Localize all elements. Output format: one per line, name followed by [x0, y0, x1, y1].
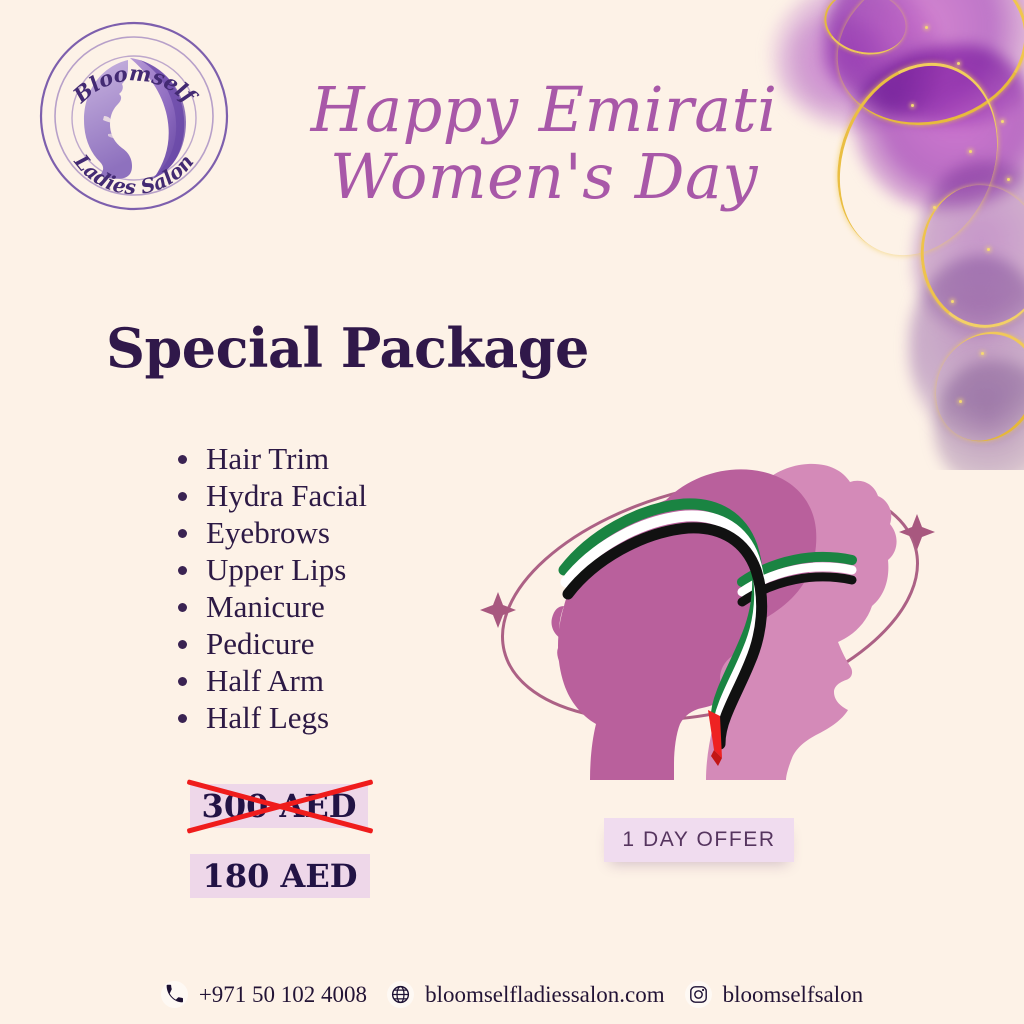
instagram-icon: [685, 981, 712, 1008]
list-item: Eyebrows: [172, 514, 367, 551]
list-item: Hydra Facial: [172, 477, 367, 514]
services-list: Hair Trim Hydra Facial Eyebrows Upper Li…: [172, 440, 367, 736]
list-item: Pedicure: [172, 625, 367, 662]
contact-website[interactable]: bloomselfladiessalon.com: [387, 981, 665, 1008]
greeting-headline: Happy Emirati Women's Day: [284, 78, 804, 208]
list-item: Upper Lips: [172, 551, 367, 588]
contact-phone-text: +971 50 102 4008: [199, 982, 367, 1008]
greeting-line-1: Happy Emirati: [284, 78, 804, 141]
globe-icon: [387, 981, 414, 1008]
phone-icon: [161, 981, 188, 1008]
page-title: Special Package: [106, 316, 589, 380]
greeting-line-2: Women's Day: [284, 145, 804, 208]
new-price: 180 AED: [190, 854, 370, 898]
logo-top-text: Bloomself: [67, 60, 203, 110]
contact-phone[interactable]: +971 50 102 4008: [161, 981, 367, 1008]
svg-text:Bloomself: Bloomself: [67, 60, 203, 110]
purple-gold-ink-decoration: [724, 0, 1024, 470]
two-women-profiles-illustration: [470, 420, 950, 780]
list-item: Half Legs: [172, 699, 367, 736]
gold-vein-icon: [912, 177, 1024, 336]
svg-text:Ladies Salon: Ladies Salon: [69, 149, 198, 199]
brand-logo: Bloomself Ladies Salon: [36, 14, 232, 218]
poster-canvas: Bloomself Ladies Salon Happy Emirati Wom…: [0, 0, 1024, 1024]
list-item: Manicure: [172, 588, 367, 625]
gold-vein-icon: [809, 39, 1024, 280]
contact-instagram[interactable]: bloomselfsalon: [685, 981, 864, 1008]
contact-instagram-text: bloomselfsalon: [723, 982, 864, 1008]
logo-bottom-text: Ladies Salon: [69, 149, 198, 199]
gold-vein-icon: [818, 0, 911, 62]
footer-contact-bar: +971 50 102 4008 bloomselfladiessalon.co…: [0, 981, 1024, 1008]
status-badge: 1 DAY OFFER: [604, 818, 794, 862]
gold-vein-icon: [817, 0, 1024, 149]
list-item: Hair Trim: [172, 440, 367, 477]
contact-website-text: bloomselfladiessalon.com: [425, 982, 665, 1008]
old-price: 300 AED: [190, 784, 368, 828]
list-item: Half Arm: [172, 662, 367, 699]
